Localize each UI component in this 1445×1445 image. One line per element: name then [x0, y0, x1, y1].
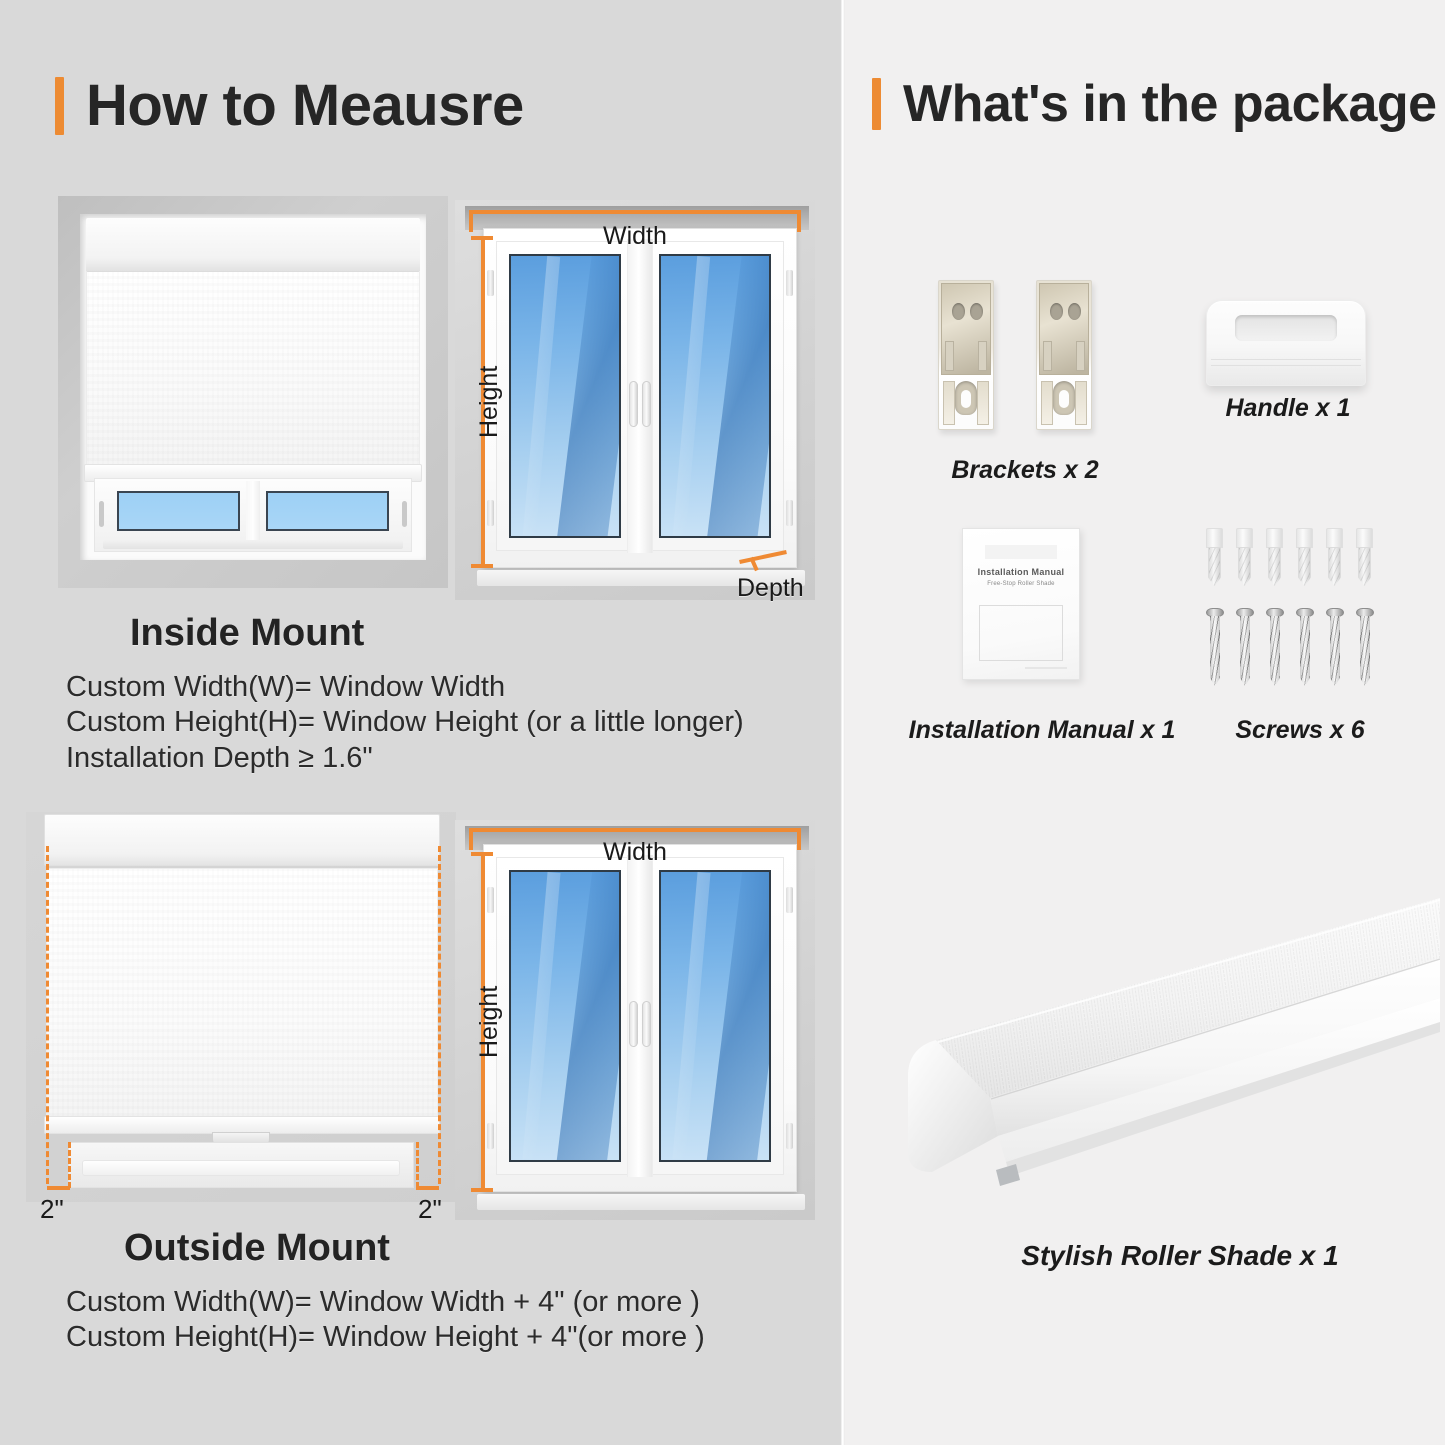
- shade-fabric: [86, 272, 420, 468]
- window-sash-right: [646, 857, 784, 1175]
- depth-label: Depth: [737, 574, 804, 603]
- shade-fabric: [46, 868, 438, 1124]
- height-dimension-cap-top: [471, 236, 493, 240]
- inside-mount-line-1: Custom Width(W)= Window Width: [66, 670, 744, 705]
- width-dimension-line: [469, 828, 801, 832]
- window-sash-right: [646, 241, 784, 551]
- inside-mount-line-2: Custom Height(H)= Window Height (or a li…: [66, 705, 744, 740]
- width-dimension-line: [469, 210, 801, 214]
- whats-in-package-title: What's in the package: [903, 74, 1437, 134]
- screws-group: [1206, 528, 1386, 688]
- window-lever-right-icon: [642, 381, 651, 427]
- window-hinge-icon: [487, 270, 494, 296]
- manual-cover-band: [985, 545, 1057, 559]
- window-edge-guide-right: [416, 1142, 419, 1188]
- overhang-arrow-right: [416, 1186, 439, 1190]
- handle-grip-cutout: [1235, 315, 1337, 341]
- bracket-hole: [1050, 303, 1063, 320]
- brackets-label: Brackets x 2: [900, 456, 1150, 485]
- wall-anchor-icon: [1236, 528, 1253, 586]
- width-dimension-cap-left: [469, 210, 473, 232]
- height-dimension-cap-bottom: [471, 1188, 493, 1192]
- outside-mount-shade-illustration: 2" 2": [26, 812, 456, 1202]
- window-hinge-icon: [487, 887, 494, 913]
- screw-icon: [1266, 608, 1284, 686]
- bracket-tab: [1041, 381, 1053, 425]
- window-lever-right-icon: [642, 1001, 651, 1047]
- outside-mount-line-2: Custom Height(H)= Window Height + 4"(or …: [66, 1320, 705, 1355]
- overhang-guide-right: [438, 846, 441, 1184]
- inside-mount-shade-illustration: [58, 196, 448, 588]
- whats-in-package-heading: What's in the package: [872, 74, 1437, 134]
- wall-anchor-icon: [1356, 528, 1373, 586]
- window-pane-right: [266, 491, 389, 531]
- window-hinge-icon: [487, 500, 494, 526]
- how-to-measure-title: How to Meausre: [86, 72, 524, 139]
- window-glass-right: [659, 870, 771, 1162]
- handle-label: Handle x 1: [1158, 394, 1418, 423]
- screw-icon: [1236, 608, 1254, 686]
- window-hinge-icon: [786, 887, 793, 913]
- window-lower-section: [94, 478, 412, 552]
- product-infographic: How to Meausre What's in the package: [0, 0, 1445, 1445]
- manual-cover-subtitle: Free-Stop Roller Shade: [963, 581, 1079, 587]
- bracket-hole: [952, 303, 965, 320]
- height-dimension-cap-top: [471, 852, 493, 856]
- roller-shade-svg: [880, 880, 1440, 1200]
- bracket-icon: [1036, 280, 1092, 430]
- panel-divider: [840, 0, 845, 1445]
- window-hinge-icon: [487, 1123, 494, 1149]
- window-hinge-icon: [786, 1123, 793, 1149]
- width-dimension-cap-right: [797, 828, 801, 850]
- wall-anchor-icon: [1296, 528, 1313, 586]
- window-sill-edge: [82, 1160, 400, 1176]
- bracket-tab: [943, 381, 955, 425]
- installation-manual-label: Installation Manual x 1: [898, 716, 1186, 745]
- window-sill-base: [477, 1194, 805, 1210]
- window-sill: [103, 540, 403, 549]
- overhang-label-right: 2": [418, 1194, 442, 1225]
- handle-icon: [1206, 300, 1366, 386]
- manual-cover-title: Installation Manual: [963, 567, 1079, 577]
- bracket-keyhole: [1053, 381, 1075, 415]
- window-mullion: [246, 481, 260, 549]
- brackets-group: [930, 280, 1120, 440]
- accent-bar-icon: [872, 78, 881, 130]
- window-frame: [483, 844, 797, 1192]
- screw-icon: [1206, 608, 1224, 686]
- wall-anchor-icon: [1266, 528, 1283, 586]
- bracket-slot: [945, 341, 954, 371]
- window-hinge-icon: [786, 500, 793, 526]
- inside-mount-dimension-diagram: Width Height Depth: [455, 200, 815, 600]
- screw-icon: [1356, 608, 1374, 686]
- height-label: Height: [475, 366, 504, 438]
- bracket-hole: [970, 303, 983, 320]
- outside-mount-instructions: Custom Width(W)= Window Width + 4" (or m…: [66, 1285, 705, 1356]
- window-frame: [483, 228, 797, 568]
- height-label: Height: [475, 986, 504, 1058]
- width-label: Width: [603, 222, 667, 251]
- screw-icon: [1326, 608, 1344, 686]
- overhang-guide-left: [46, 846, 49, 1184]
- window-handle-right-icon: [402, 501, 407, 527]
- width-dimension-cap-left: [469, 828, 473, 850]
- bracket-slot: [1043, 341, 1052, 371]
- window-lever-left-icon: [629, 1001, 638, 1047]
- window-lever-left-icon: [629, 381, 638, 427]
- window-glass-right: [659, 254, 771, 538]
- window-glass-left: [509, 254, 621, 538]
- screw-icon: [1296, 608, 1314, 686]
- window-pane-left: [117, 491, 240, 531]
- bracket-slot: [978, 341, 987, 371]
- wall-anchor-icon: [1326, 528, 1343, 586]
- bracket-keyhole: [955, 381, 977, 415]
- window-opening: [80, 214, 426, 560]
- overhang-arrow-left: [47, 1186, 70, 1190]
- window-hinge-icon: [786, 270, 793, 296]
- accent-bar-icon: [55, 77, 64, 135]
- how-to-measure-heading: How to Meausre: [55, 72, 524, 139]
- manual-icon: Installation Manual Free-Stop Roller Sha…: [962, 528, 1080, 680]
- outside-mount-title: Outside Mount: [124, 1227, 390, 1270]
- bracket-tab: [1075, 381, 1087, 425]
- roller-shade-label: Stylish Roller Shade x 1: [950, 1240, 1410, 1272]
- outside-mount-dimension-diagram: Width Height: [455, 820, 815, 1220]
- window-sash-left: [496, 857, 634, 1175]
- width-label: Width: [603, 838, 667, 867]
- bracket-hole: [1068, 303, 1081, 320]
- window-edge-guide-left: [68, 1142, 71, 1188]
- window-glass-left: [509, 870, 621, 1162]
- width-dimension-cap-right: [797, 210, 801, 232]
- window-sash-left: [496, 241, 634, 551]
- screws-label: Screws x 6: [1200, 716, 1400, 745]
- manual-cover-footer: [1025, 667, 1067, 669]
- wall-anchor-icon: [1206, 528, 1223, 586]
- bracket-slot: [1076, 341, 1085, 371]
- height-dimension-cap-bottom: [471, 564, 493, 568]
- roller-shade-icon: [880, 880, 1440, 1200]
- manual-cover-figure: [979, 605, 1063, 661]
- bracket-tab: [977, 381, 989, 425]
- inside-mount-instructions: Custom Width(W)= Window Width Custom Hei…: [66, 670, 744, 776]
- shade-headrail: [44, 814, 440, 866]
- shade-headrail: [86, 218, 420, 272]
- window-handle-left-icon: [99, 501, 104, 527]
- handle-ridge: [1211, 359, 1361, 360]
- inside-mount-title: Inside Mount: [130, 612, 364, 655]
- overhang-label-left: 2": [40, 1194, 64, 1225]
- handle-ridge: [1211, 365, 1361, 366]
- bracket-icon: [938, 280, 994, 430]
- inside-mount-line-3: Installation Depth ≥ 1.6": [66, 741, 744, 776]
- outside-mount-line-1: Custom Width(W)= Window Width + 4" (or m…: [66, 1285, 705, 1320]
